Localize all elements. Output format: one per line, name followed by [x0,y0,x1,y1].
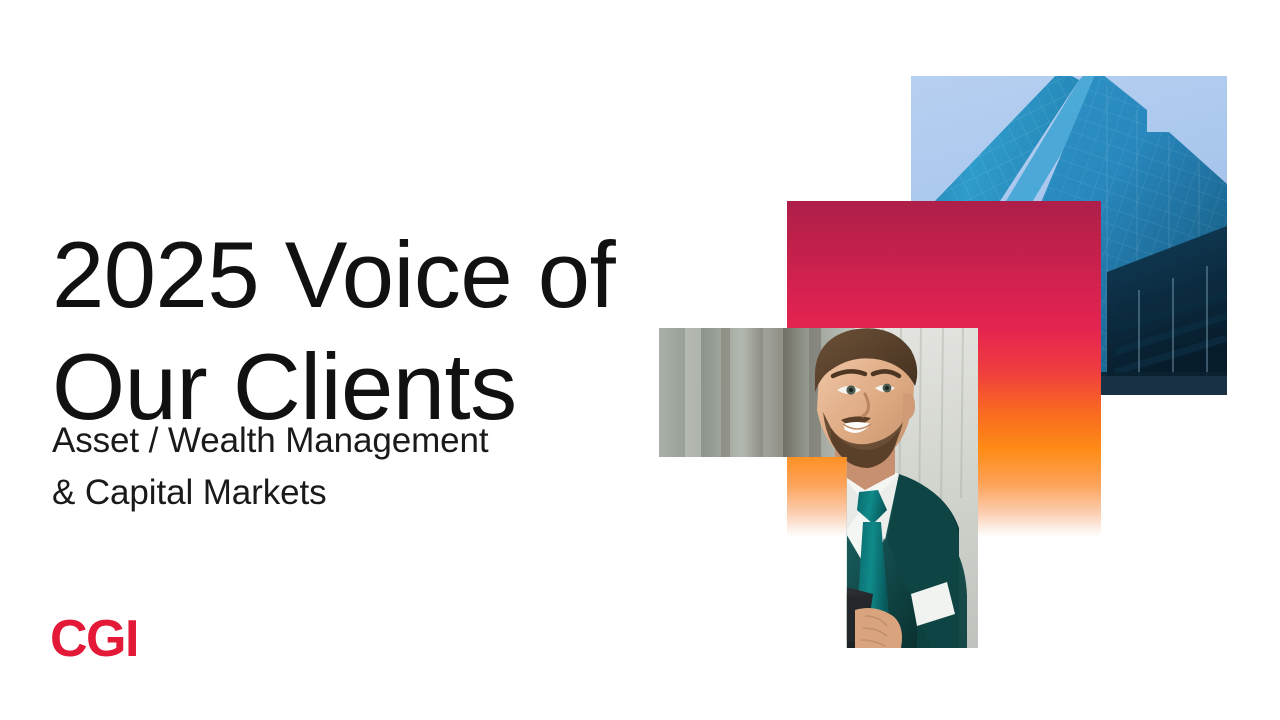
text-column: 2025 Voice of Our Clients Asset / Wealth… [52,0,652,720]
page-title: 2025 Voice of Our Clients [52,219,652,443]
cgi-logo-text: CGI [50,614,138,664]
page-subtitle: Asset / Wealth Management & Capital Mark… [52,415,632,519]
slide-canvas: 2025 Voice of Our Clients Asset / Wealth… [0,0,1280,720]
cgi-logo: CGI [50,614,162,664]
